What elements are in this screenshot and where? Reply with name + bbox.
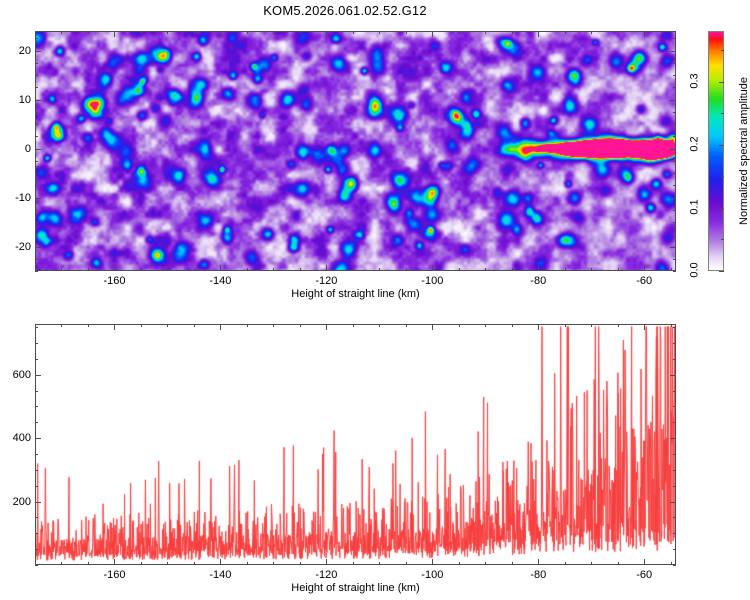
colorbar-ticklabel: 0.0 [676,264,702,276]
x-tick-minor [61,562,62,565]
y-tick-minor [35,161,38,162]
y-tick-minor-right [673,259,676,260]
x-tick-minor-top [671,324,672,327]
x-tick-minor-top [512,324,513,327]
x-tick [538,265,539,271]
x-tick-minor-top [591,31,592,34]
x-tick-minor-top [618,324,619,327]
y-tick-minor [35,222,38,223]
y-tick-right [670,375,676,376]
y-tick-minor-right [673,549,676,550]
y-tick-minor [35,87,38,88]
x-tick-minor [618,562,619,565]
y-tick-minor-right [673,565,676,566]
y-tick-minor-right [673,87,676,88]
y-ticklabel: 0 [1,143,31,155]
y-tick-minor [35,210,38,211]
y-tick-minor [35,173,38,174]
x-tick-minor [353,562,354,565]
colorbar-tick [719,82,724,83]
y-ticklabel: -10 [1,192,31,204]
snr-panel [35,324,676,565]
x-ticklabel: -140 [209,275,231,287]
x-tick-minor-top [273,324,274,327]
x-tick-minor-top [300,31,301,34]
x-tick [220,265,221,271]
colorbar-ticklabel: 0.3 [676,75,702,87]
y-tick [35,149,41,150]
x-tick-top [538,31,539,37]
x-ticklabel: -100 [421,275,443,287]
x-tick-minor-top [485,324,486,327]
x-tick [432,265,433,271]
x-ticklabel: -100 [421,569,443,581]
x-tick-minor-top [406,31,407,34]
x-tick-minor [247,562,248,565]
x-tick [644,265,645,271]
colorbar-tick-minor [721,239,724,240]
x-tick-minor-top [379,31,380,34]
y-tick-right [670,198,676,199]
x-axis-title: Height of straight line (km) [291,582,419,594]
x-tick-minor [618,268,619,271]
y-tick-minor-right [673,124,676,125]
y-tick-right [670,438,676,439]
x-tick-minor-top [618,31,619,34]
colorbar-title: Normalized spectral amplitude [738,77,750,225]
y-tick-minor [35,422,38,423]
x-tick-minor [273,562,274,565]
y-tick-minor-right [673,406,676,407]
x-tick-top [220,324,221,330]
x-tick-top [114,31,115,37]
y-tick-minor-right [673,359,676,360]
x-tick-minor [300,562,301,565]
colorbar-gradient [709,32,723,270]
x-ticklabel: -160 [103,275,125,287]
x-tick-minor-top [565,324,566,327]
y-tick-right [670,502,676,503]
y-tick-minor-right [673,161,676,162]
x-tick-minor-top [167,31,168,34]
x-tick-minor-top [194,31,195,34]
x-tick-top [326,31,327,37]
y-tick [35,247,41,248]
y-tick-minor-right [673,112,676,113]
y-tick-minor-right [673,486,676,487]
x-tick-minor [406,562,407,565]
x-tick-minor [591,268,592,271]
x-tick-minor [247,268,248,271]
x-tick-minor [88,562,89,565]
y-tick-minor [35,533,38,534]
x-tick-minor-top [88,31,89,34]
x-tick-top [538,324,539,330]
x-ticklabel: -80 [530,275,546,287]
spectrogram-image [36,32,675,270]
x-tick-minor [167,562,168,565]
x-tick-minor-top [141,31,142,34]
x-tick-top [432,324,433,330]
x-tick [538,559,539,565]
x-tick-minor [512,268,513,271]
x-tick-minor [273,268,274,271]
x-tick-minor [459,268,460,271]
x-ticklabel: -60 [636,569,652,581]
colorbar [708,31,724,271]
y-tick-minor [35,234,38,235]
x-tick-minor [167,268,168,271]
y-tick-minor-right [673,234,676,235]
x-tick-minor-top [141,324,142,327]
y-tick-minor-right [673,470,676,471]
x-tick-minor-top [61,324,62,327]
y-ticklabel: 600 [1,369,31,381]
x-tick-minor-top [459,31,460,34]
y-tick-right [670,51,676,52]
x-axis-title: Height of straight line (km) [291,288,419,300]
y-tick [35,375,41,376]
y-tick-minor [35,359,38,360]
x-tick-minor-top [35,31,36,34]
x-ticklabel: -160 [103,569,125,581]
x-tick-minor [485,268,486,271]
colorbar-tick-minor [721,50,724,51]
x-tick-minor-top [300,324,301,327]
x-tick-top [432,31,433,37]
y-tick [35,502,41,503]
snr-trace [36,325,675,564]
y-tick [35,438,41,439]
y-tick-minor [35,327,38,328]
x-ticklabel: -140 [209,569,231,581]
y-tick [35,100,41,101]
y-tick-minor-right [673,38,676,39]
x-tick-minor-top [247,31,248,34]
y-tick-minor-right [673,63,676,64]
y-tick-right [670,100,676,101]
y-tick-minor-right [673,422,676,423]
x-tick-minor [591,562,592,565]
colorbar-tick [719,271,724,272]
y-tick-minor [35,454,38,455]
y-tick-minor [35,271,38,272]
x-tick-minor [88,268,89,271]
x-tick [432,559,433,565]
y-tick-minor [35,565,38,566]
x-tick [326,265,327,271]
y-ticklabel: 20 [1,45,31,57]
y-tick-minor [35,112,38,113]
x-tick-minor [61,268,62,271]
x-tick-minor-top [565,31,566,34]
y-tick-minor [35,75,38,76]
y-tick-minor-right [673,391,676,392]
x-tick-minor-top [353,324,354,327]
y-ticklabel: -20 [1,241,31,253]
x-tick-minor-top [459,324,460,327]
y-tick [35,198,41,199]
y-tick-minor-right [673,454,676,455]
spectrogram-panel [35,31,676,271]
y-tick-minor-right [673,327,676,328]
x-tick [114,265,115,271]
colorbar-ticklabel: 0.2 [676,138,702,150]
x-tick [326,559,327,565]
y-tick-minor [35,259,38,260]
x-tick [644,559,645,565]
x-tick-minor [406,268,407,271]
y-tick-minor [35,549,38,550]
x-ticklabel: -120 [315,569,337,581]
x-tick [220,559,221,565]
x-tick-minor-top [61,31,62,34]
x-tick-minor-top [353,31,354,34]
x-tick-minor-top [194,324,195,327]
x-tick-minor [141,562,142,565]
x-tick [114,559,115,565]
y-tick-minor [35,136,38,137]
x-tick-minor-top [485,31,486,34]
colorbar-tick [719,145,724,146]
y-tick-minor-right [673,517,676,518]
y-tick-minor [35,63,38,64]
x-tick-minor-top [591,324,592,327]
x-tick-minor-top [273,31,274,34]
x-tick-minor [353,268,354,271]
y-tick-minor [35,470,38,471]
x-ticklabel: -60 [636,275,652,287]
x-tick-minor [459,562,460,565]
x-tick-minor-top [379,324,380,327]
x-tick-minor-top [406,324,407,327]
x-tick-minor [565,562,566,565]
colorbar-tick [719,208,724,209]
y-tick-minor-right [673,185,676,186]
x-tick-minor [194,268,195,271]
figure-root: KOM5.2026.061.02.52.G12 -160-140-120-100… [0,0,750,600]
y-tick-minor [35,391,38,392]
y-tick-minor-right [673,533,676,534]
x-tick-minor-top [247,324,248,327]
x-tick-minor [379,562,380,565]
y-tick-minor [35,38,38,39]
x-tick-top [644,324,645,330]
page-title: KOM5.2026.061.02.52.G12 [0,3,690,18]
y-tick-minor [35,124,38,125]
y-tick-minor-right [673,222,676,223]
x-tick-top [220,31,221,37]
colorbar-tick-minor [721,176,724,177]
x-tick-minor [485,562,486,565]
x-tick-minor-top [88,324,89,327]
x-tick-minor [379,268,380,271]
y-tick-minor [35,517,38,518]
x-tick-minor [671,562,672,565]
y-tick-minor-right [673,173,676,174]
x-ticklabel: -120 [315,275,337,287]
y-ticklabel: 400 [1,432,31,444]
y-tick-minor [35,185,38,186]
x-tick-minor-top [167,324,168,327]
x-tick-minor-top [671,31,672,34]
x-tick-minor [141,268,142,271]
colorbar-tick-minor [721,113,724,114]
x-tick-minor [565,268,566,271]
y-tick-minor [35,406,38,407]
x-tick-top [326,324,327,330]
y-ticklabel: 10 [1,94,31,106]
x-ticklabel: -80 [530,569,546,581]
y-tick [35,51,41,52]
y-tick-minor-right [673,343,676,344]
x-tick-minor-top [512,31,513,34]
y-ticklabel: 200 [1,496,31,508]
y-tick-right [670,247,676,248]
x-tick-minor [300,268,301,271]
y-tick-minor [35,486,38,487]
x-tick-minor [671,268,672,271]
colorbar-ticklabel: 0.1 [676,201,702,213]
x-tick-minor [194,562,195,565]
x-tick-top [644,31,645,37]
x-tick-minor [512,562,513,565]
x-tick-top [114,324,115,330]
y-tick-minor [35,343,38,344]
